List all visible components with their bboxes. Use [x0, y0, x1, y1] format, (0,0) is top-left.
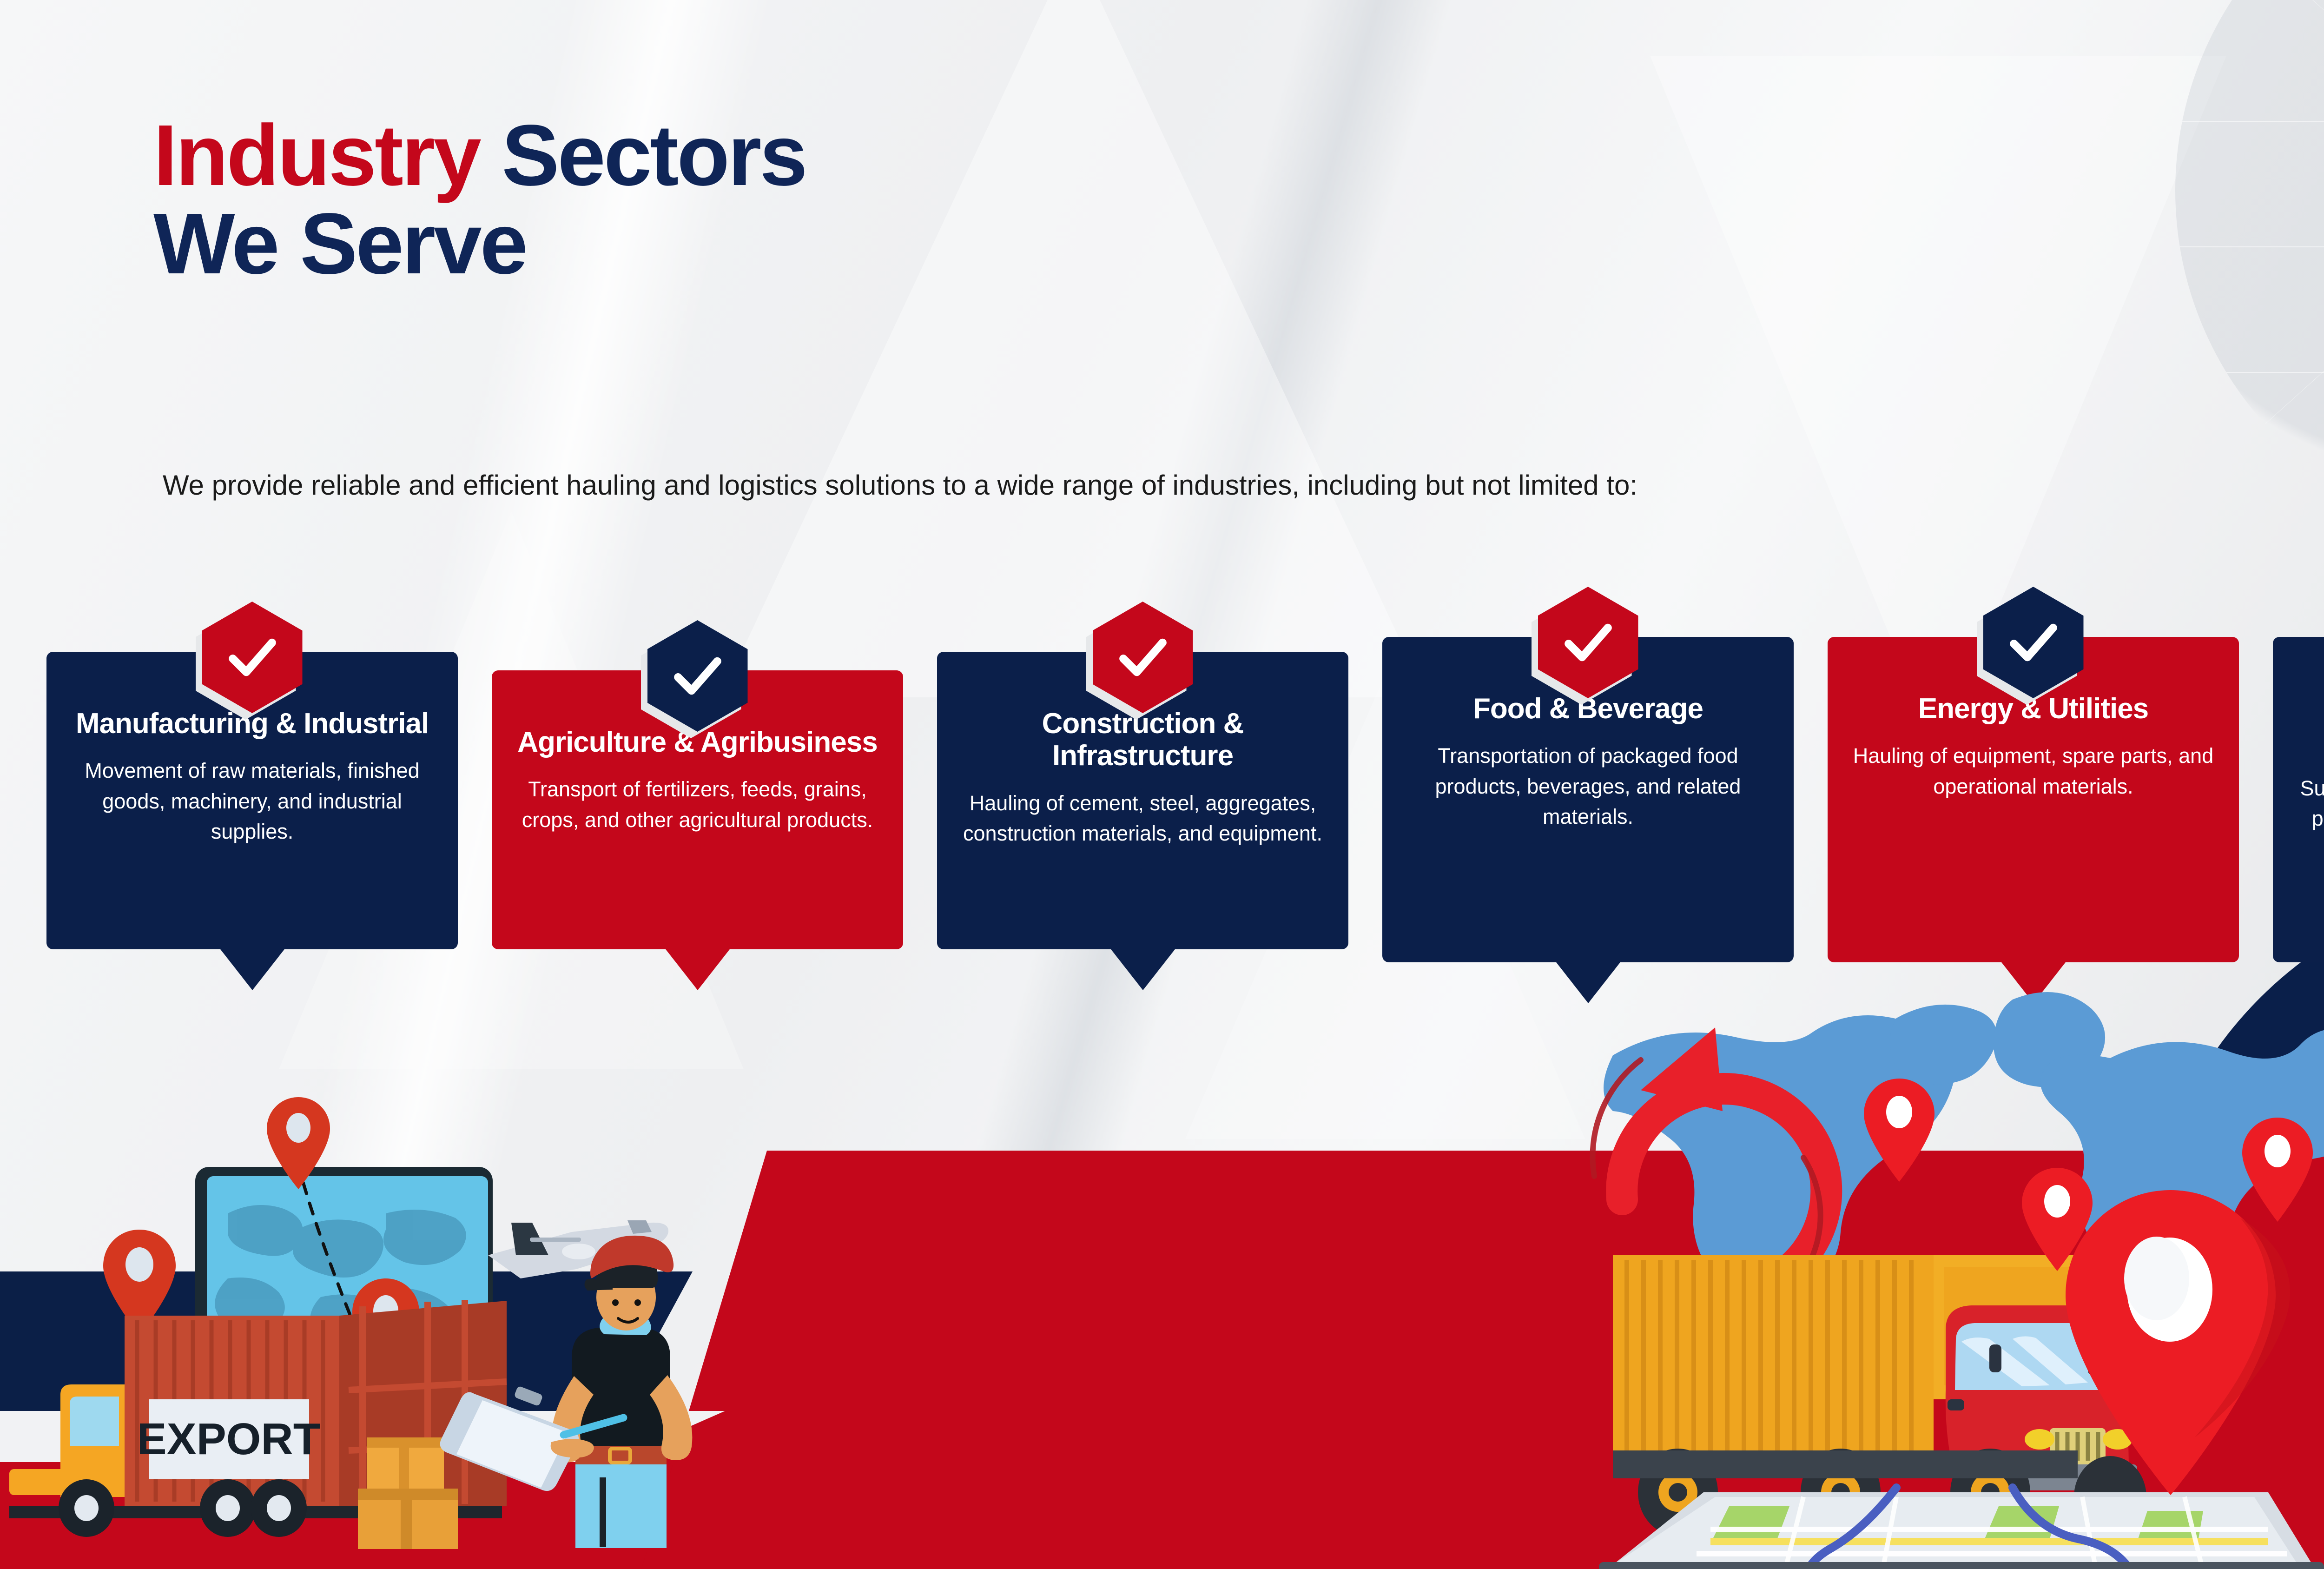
check-icon: [2003, 612, 2064, 673]
truck-chassis: [1613, 1450, 2078, 1478]
cab-window: [70, 1397, 119, 1446]
sector-card-food-beverage[interactable]: Food & Beverage Transportation of packag…: [1382, 637, 1794, 962]
page-title: Industry Sectors We Serve: [153, 112, 806, 288]
sector-card-agriculture[interactable]: Agriculture & Agribusiness Transport of …: [492, 670, 903, 949]
card-description: Hauling of equipment, spare parts, and o…: [1849, 741, 2218, 801]
sector-card-manufacturing[interactable]: Manufacturing & Industrial Movement of r…: [46, 652, 458, 949]
tablet-street-map: [1599, 1488, 2324, 1569]
card-description: Support for public projects, agricultura…: [2294, 773, 2324, 864]
card-description: Transport of fertilizers, feeds, grains,…: [513, 774, 882, 835]
export-truck-illustration: EXPORT: [0, 1037, 693, 1569]
title-line-two: We Serve: [153, 196, 526, 292]
card-title: Government & Public Sector: [2294, 693, 2324, 757]
card-badge: [647, 620, 748, 732]
global-delivery-illustration: [1543, 958, 2324, 1569]
card-badge: [1538, 587, 1638, 698]
sector-card-energy-utilities[interactable]: Energy & Utilities Hauling of equipment,…: [1828, 637, 2239, 962]
card-description: Hauling of cement, steel, aggregates, co…: [958, 788, 1327, 849]
sector-card-construction[interactable]: Construction & Infrastructure Hauling of…: [937, 652, 1348, 949]
export-label: EXPORT: [137, 1414, 321, 1464]
card-description: Movement of raw materials, finished good…: [68, 755, 436, 847]
check-icon: [667, 645, 728, 707]
check-icon: [222, 627, 283, 688]
side-mirror: [1989, 1344, 2001, 1372]
map-pin: [2242, 1118, 2313, 1222]
check-icon: [1112, 627, 1174, 688]
sector-card-government[interactable]: Government & Public Sector Support for p…: [2273, 637, 2324, 962]
card-badge: [1983, 587, 2084, 698]
headlight: [2025, 1429, 2054, 1450]
card-description: Transportation of packaged food products…: [1404, 741, 1772, 832]
cardboard-boxes: [358, 1437, 458, 1549]
tablet-base: [1599, 1562, 2324, 1569]
title-accent-word: Industry: [153, 107, 480, 204]
check-icon: [1558, 612, 1619, 673]
truck-bumper: [9, 1469, 65, 1495]
background-triangle-1: [720, 0, 1427, 697]
card-badge: [202, 602, 303, 713]
card-badge: [1093, 602, 1193, 713]
title-rest-word: Sectors: [480, 107, 806, 204]
card-title: Construction & Infrastructure: [958, 708, 1327, 772]
page-header: Industry Sectors We Serve: [153, 112, 806, 288]
page-subtitle: We provide reliable and efficient haulin…: [163, 465, 2022, 505]
